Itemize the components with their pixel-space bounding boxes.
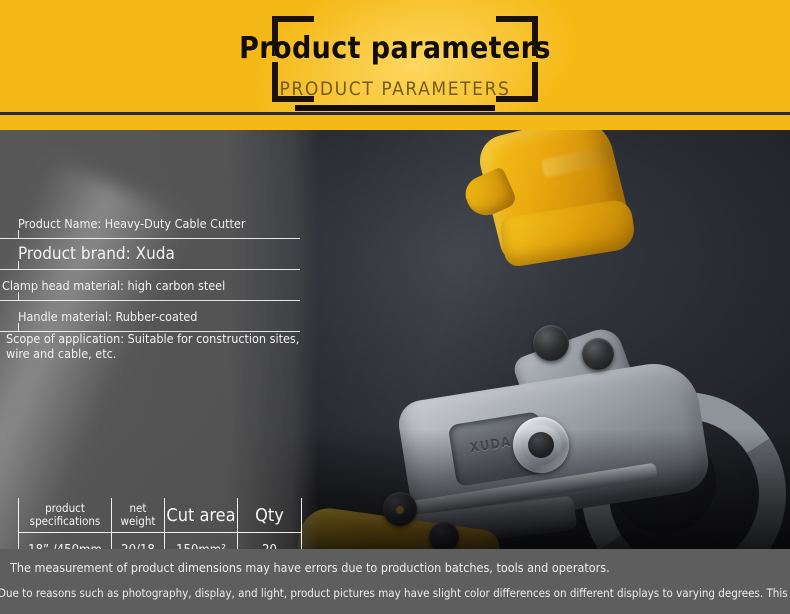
cell-specification: 18” /450mm [19, 533, 112, 550]
spec-label: Clamp head material: high carbon steel [2, 278, 225, 293]
page-header-banner: Product parameters PRODUCT PARAMETERS [0, 0, 790, 113]
spec-row-product-name: Product Name: Heavy-Duty Cable Cutter [0, 208, 300, 239]
column-header-line-2: specifications [30, 514, 101, 528]
tool-bolt [582, 338, 614, 370]
product-parameters-page: Product parameters PRODUCT PARAMETERS XU… [0, 0, 790, 614]
table-header-row: product specifications net weight Cut ar… [19, 498, 302, 533]
footer-disclaimer: The measurement of product dimensions ma… [0, 549, 790, 614]
table-body: 18” /450mm 20/18 150mm² 20 24” /600mm 20… [19, 533, 302, 550]
column-header-line-1: product [45, 501, 85, 515]
spec-label: Handle material: Rubber-coated [18, 309, 197, 324]
spec-row-clamp-head-material: Clamp head material: high carbon steel [0, 270, 300, 301]
table-header: product specifications net weight Cut ar… [19, 498, 302, 533]
specifications-panel: Product Name: Heavy-Duty Cable Cutter Pr… [0, 130, 318, 549]
table-row: 18” /450mm 20/18 150mm² 20 [19, 533, 302, 550]
banner-lower-strip [0, 115, 790, 130]
tool-bolt [533, 325, 569, 361]
spec-row-handle-material: Handle material: Rubber-coated [0, 301, 300, 332]
spec-label: Product Name: Heavy-Duty Cable Cutter [18, 216, 245, 231]
column-header-cut-area: Cut area [165, 498, 238, 533]
cell-qty: 20 [238, 533, 302, 550]
page-subtitle: PRODUCT PARAMETERS [0, 80, 790, 99]
column-header-net-weight: net weight [112, 498, 165, 533]
specifications-list: Product Name: Heavy-Duty Cable Cutter Pr… [0, 208, 318, 359]
spec-row-scope-of-application: Scope of application: Suitable for const… [0, 332, 318, 359]
column-header-specifications: product specifications [19, 498, 112, 533]
spec-row-tick [18, 292, 19, 301]
disclaimer-color-note: Due to reasons such as photography, disp… [0, 586, 790, 600]
title-underline-bar [295, 105, 495, 111]
specifications-table: product specifications net weight Cut ar… [18, 498, 302, 549]
disclaimer-measurement-note: The measurement of product dimensions ma… [10, 560, 610, 575]
column-header-qty: Qty [238, 498, 302, 533]
cell-net-weight: 20/18 [112, 533, 165, 550]
spec-label: Scope of application: Suitable for const… [6, 331, 318, 361]
page-title: Product parameters [0, 34, 790, 64]
spec-row-product-brand: Product brand: Xuda [0, 239, 300, 270]
spec-row-tick [18, 261, 19, 270]
cell-cut-area: 150mm² [165, 533, 238, 550]
spec-row-tick [18, 230, 19, 239]
spec-label: Product brand: Xuda [18, 244, 175, 264]
